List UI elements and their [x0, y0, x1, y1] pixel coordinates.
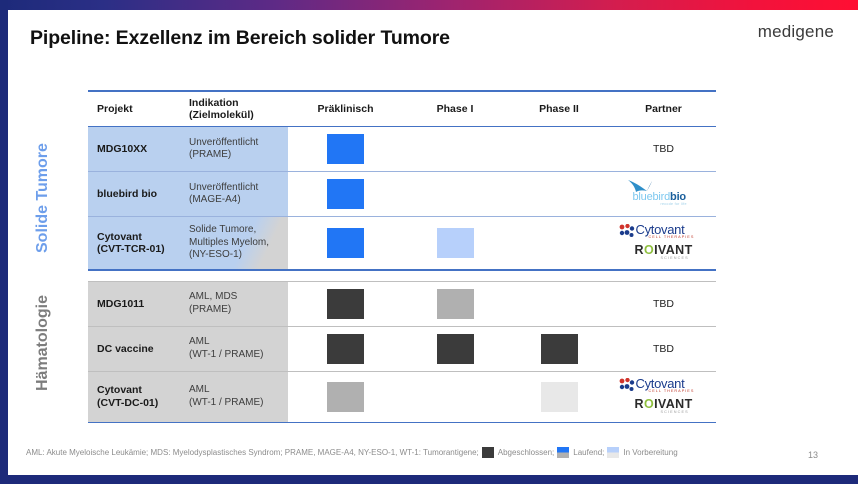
roivant-r: R [635, 397, 644, 411]
cell-phase2 [507, 282, 611, 326]
column-header-indikation-sub: (Zielmolekül) [189, 109, 254, 121]
roivant-o: O [644, 397, 654, 411]
cell-indikation: AML (WT-1 / PRAME) [181, 327, 288, 371]
column-header-praeklinisch-label: Präklinisch [317, 103, 373, 115]
cell-phase2 [507, 217, 611, 269]
legend-swatch-in-vorbereitung [607, 447, 619, 458]
status-bar-dark [327, 334, 364, 364]
column-header-partner-label: Partner [645, 103, 682, 115]
cell-projekt: MDG10XX [88, 127, 181, 171]
status-bar-blue [327, 134, 364, 164]
legend-swatch-abgeschlossen [482, 447, 494, 458]
indikation-line1: AML, MDS [189, 291, 237, 304]
legend-label-laufend: Laufend; [573, 448, 604, 457]
cell-indikation: Unveröffentlicht (MAGE-A4) [181, 172, 288, 216]
column-header-partner: Partner [611, 103, 716, 115]
cytovant-roivant-logo: Cytovant CELL THERAPIES ROIVANT SCIENCES [617, 376, 711, 418]
cell-partner: TBD [611, 127, 716, 171]
indikation-line1: AML [189, 336, 263, 349]
cytovant-tagline: CELL THERAPIES [649, 389, 695, 393]
indikation-line2: (WT-1 / PRAME) [189, 349, 263, 362]
status-bar-empty [437, 382, 474, 412]
partner-label: TBD [653, 143, 674, 155]
roivant-tagline: SCIENCES [661, 410, 689, 414]
cell-indikation: Unveröffentlicht (PRAME) [181, 127, 288, 171]
status-bar-mid-grey [437, 289, 474, 319]
projekt-name: bluebird bio [97, 188, 157, 201]
indikation-line2: (WT-1 / PRAME) [189, 397, 263, 410]
cell-projekt: DC vaccine [88, 327, 181, 371]
cell-phase1 [403, 327, 507, 371]
roivant-tagline: SCIENCES [661, 256, 689, 260]
cell-indikation: Solide Tumore, Multiples Myelom, (NY-ESO… [181, 217, 288, 269]
indikation-line1: AML [189, 384, 263, 397]
cytovant-roivant-logo: Cytovant CELL THERAPIES ROIVANT SCIENCES [617, 222, 711, 264]
cell-partner: Cytovant CELL THERAPIES ROIVANT SCIENCES [611, 217, 716, 269]
legend-label-in-vorbereitung: In Vorbereitung [623, 448, 677, 457]
projekt-name: Cytovant [97, 384, 158, 397]
cell-phase2 [507, 372, 611, 422]
cell-phase2 [507, 172, 611, 216]
status-bar-empty [541, 289, 578, 319]
table-row[interactable]: Cytovant (CVT-TCR-01) Solide Tumore, Mul… [88, 217, 716, 269]
column-header-phase1: Phase I [403, 103, 507, 115]
page-number: 13 [808, 450, 818, 460]
status-bar-blue [327, 179, 364, 209]
status-bar-dark [437, 334, 474, 364]
indikation-line2: (PRAME) [189, 304, 237, 317]
bluebird-tagline: recode for life [661, 202, 687, 206]
indikation-line1: Unveröffentlicht [189, 182, 258, 195]
page-title: Pipeline: Exzellenz im Bereich solider T… [30, 27, 450, 50]
cell-praeklinisch [288, 172, 403, 216]
indikation-line3: (NY-ESO-1) [189, 249, 269, 262]
projekt-code: (CVT-DC-01) [97, 397, 158, 410]
cytovant-tagline: CELL THERAPIES [649, 235, 695, 239]
column-header-indikation-label: Indikation [189, 97, 254, 109]
cell-phase1 [403, 282, 507, 326]
cell-praeklinisch [288, 282, 403, 326]
bottom-accent-strip [0, 475, 858, 484]
roivant-wordmark: ROIVANT [635, 243, 693, 257]
indikation-line2: (MAGE-A4) [189, 194, 258, 207]
cell-indikation: AML (WT-1 / PRAME) [181, 372, 288, 422]
footer: AML: Akute Myeloische Leukämie; MDS: Mye… [26, 447, 832, 458]
cell-phase2 [507, 327, 611, 371]
roivant-rest: IVANT [654, 243, 693, 257]
table-row[interactable]: MDG10XX Unveröffentlicht (PRAME) TBD [88, 127, 716, 171]
category-label-haematologie: Hämatologie [34, 276, 58, 410]
cell-projekt: Cytovant (CVT-TCR-01) [88, 217, 181, 269]
legend-swatch-laufend [557, 447, 569, 458]
cell-partner: TBD [611, 282, 716, 326]
cell-indikation: AML, MDS (PRAME) [181, 282, 288, 326]
status-bar-light-grey [541, 382, 578, 412]
medigene-logo: medigene [758, 22, 834, 42]
cell-partner: bluebirdbio recode for life [611, 172, 716, 216]
cytovant-dots-icon [619, 378, 635, 391]
status-bar-blue [327, 228, 364, 258]
indikation-line1: Unveröffentlicht [189, 137, 258, 150]
indikation-line2: (PRAME) [189, 149, 258, 162]
table-bottom-rule [88, 422, 716, 424]
cell-phase1 [403, 172, 507, 216]
indikation-line1: Solide Tumore, [189, 224, 269, 237]
section-gap [88, 271, 716, 281]
column-header-projekt-label: Projekt [97, 103, 133, 115]
cell-praeklinisch [288, 372, 403, 422]
column-header-phase2: Phase II [507, 103, 611, 115]
status-bar-empty [541, 179, 578, 209]
table-row[interactable]: Cytovant (CVT-DC-01) AML (WT-1 / PRAME) [88, 372, 716, 422]
projekt-name: DC vaccine [97, 343, 154, 356]
column-header-phase2-label: Phase II [539, 103, 579, 115]
projekt-name: MDG1011 [97, 298, 144, 311]
status-bar-light-blue [437, 228, 474, 258]
cell-projekt: bluebird bio [88, 172, 181, 216]
status-bar-empty [437, 134, 474, 164]
cell-phase2 [507, 127, 611, 171]
roivant-rest: IVANT [654, 397, 693, 411]
top-gradient-bar [0, 0, 858, 10]
status-bar-empty [541, 228, 578, 258]
cell-phase1 [403, 127, 507, 171]
status-bar-empty [541, 134, 578, 164]
pipeline-table: Projekt Indikation (Zielmolekül) Präklin… [88, 90, 716, 423]
indikation-line2: Multiples Myelom, [189, 237, 269, 250]
partner-label: TBD [653, 298, 674, 310]
column-header-indikation: Indikation (Zielmolekül) [181, 97, 288, 121]
cell-projekt: MDG1011 [88, 282, 181, 326]
cell-praeklinisch [288, 217, 403, 269]
table-row[interactable]: DC vaccine AML (WT-1 / PRAME) TBD [88, 327, 716, 371]
column-header-praeklinisch: Präklinisch [288, 103, 403, 115]
projekt-name: MDG10XX [97, 143, 147, 156]
status-bar-empty [437, 179, 474, 209]
column-header-phase1-label: Phase I [437, 103, 474, 115]
footnote-abbreviations: AML: Akute Myeloische Leukämie; MDS: Mye… [26, 448, 479, 457]
cell-partner: Cytovant CELL THERAPIES ROIVANT SCIENCES [611, 372, 716, 422]
column-header-projekt: Projekt [88, 103, 181, 115]
cell-projekt: Cytovant (CVT-DC-01) [88, 372, 181, 422]
cell-praeklinisch [288, 127, 403, 171]
status-bar-mid-grey [327, 382, 364, 412]
projekt-code: (CVT-TCR-01) [97, 243, 165, 256]
table-row[interactable]: MDG1011 AML, MDS (PRAME) TBD [88, 282, 716, 326]
table-header-row: Projekt Indikation (Zielmolekül) Präklin… [88, 92, 716, 126]
legend-label-abgeschlossen: Abgeschlossen; [498, 448, 554, 457]
left-accent-strip [0, 0, 8, 484]
status-bar-dark [541, 334, 578, 364]
roivant-wordmark: ROIVANT [635, 397, 693, 411]
projekt-name: Cytovant [97, 231, 165, 244]
category-label-solide-tumore: Solide Tumore [34, 128, 58, 268]
roivant-o: O [644, 243, 654, 257]
cell-praeklinisch [288, 327, 403, 371]
cell-phase1 [403, 372, 507, 422]
cell-phase1 [403, 217, 507, 269]
bluebird-bio-logo: bluebirdbio recode for life [621, 179, 707, 209]
status-bar-dark [327, 289, 364, 319]
cytovant-dots-icon [619, 224, 635, 237]
partner-label: TBD [653, 343, 674, 355]
cell-partner: TBD [611, 327, 716, 371]
roivant-r: R [635, 243, 644, 257]
table-row[interactable]: bluebird bio Unveröffentlicht (MAGE-A4) … [88, 172, 716, 216]
